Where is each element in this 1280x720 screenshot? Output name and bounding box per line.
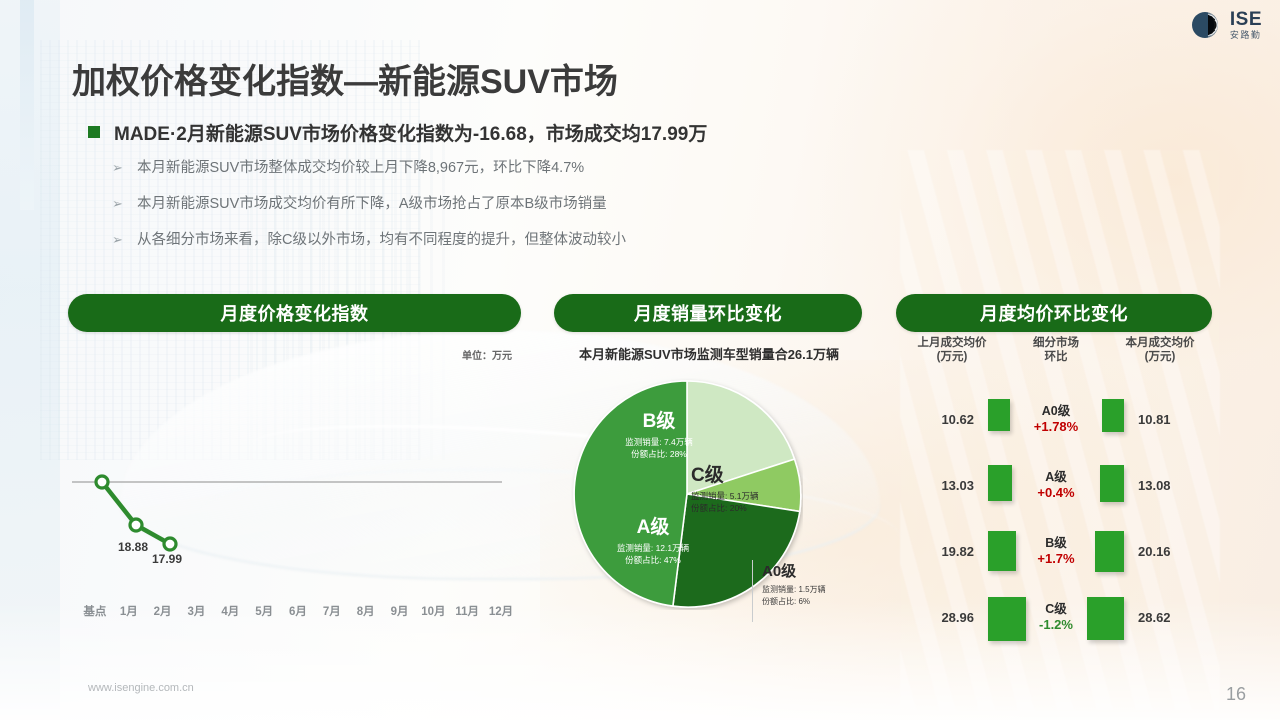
cell-current-price: 28.62 [1130,610,1212,625]
cell-current-price: 20.16 [1130,544,1212,559]
cell-prev-price: 28.96 [900,610,982,625]
headline-square-bullet-icon [88,126,100,138]
x-tick-m12: 12月 [484,603,518,619]
cell-delta: +1.78% [1034,419,1078,435]
arrow-bullet-icon: ➢ [112,230,124,250]
line-series-path [102,482,170,544]
bar-prev [988,597,1026,641]
data-point-base [96,476,108,488]
pie-label-a0-title: A0级 [762,560,870,581]
x-tick-base: 基点 [78,603,112,619]
data-point-jan [130,519,142,531]
list-item: ➢ 本月新能源SUV市场成交均价有所下降，A级市场抢占了原本B级市场销量 [112,194,626,214]
x-tick-m2: 2月 [146,603,180,619]
bar-current [1102,399,1124,432]
pie-label-a0-share: 份额占比: 6% [762,596,870,608]
cell-prev-price: 19.82 [900,544,982,559]
cell-segment-name: A级 [1037,470,1074,485]
cell-delta: +1.7% [1037,551,1074,567]
logo-wordmark: ISE [1230,10,1262,29]
bar-prev [988,465,1012,501]
logo-wordmark-cn: 安路勤 [1230,31,1262,40]
page-number: 16 [1226,684,1246,705]
pie-label-a0-volume: 监测销量: 1.5万辆 [762,584,870,596]
cell-segment-name: A0级 [1034,404,1078,419]
page-title: 加权价格变化指数—新能源SUV市场 [72,54,618,103]
table-row: 13.03 A级 +0.4% 13.08 [900,452,1212,518]
x-tick-m11: 11月 [450,603,484,619]
list-item: ➢ 本月新能源SUV市场整体成交均价较上月下降8,967元，环比下降4.7% [112,158,626,178]
arrow-bullet-icon: ➢ [112,194,124,214]
x-tick-m4: 4月 [213,603,247,619]
table-row: 10.62 A0级 +1.78% 10.81 [900,386,1212,452]
panel-header-price-table: 月度均价环比变化 [896,294,1212,332]
bullet-list: ➢ 本月新能源SUV市场整体成交均价较上月下降8,967元，环比下降4.7% ➢… [112,158,626,266]
bar-current [1087,597,1124,640]
bar-prev [988,531,1016,571]
data-label-jan: 18.88 [118,540,148,554]
footer-url: www.isengine.com.cn [88,682,194,694]
x-tick-m10: 10月 [416,603,450,619]
arrow-bullet-icon: ➢ [112,158,124,178]
list-item: ➢ 从各细分市场来看，除C级以外市场，均有不同程度的提升，但整体波动较小 [112,230,626,250]
x-tick-m3: 3月 [180,603,214,619]
column-header-prev-price: 上月成交均价 (万元) [900,336,1004,364]
pie-callout-a0: A0级 监测销量: 1.5万辆 份额占比: 6% [752,560,870,622]
x-tick-m7: 7月 [315,603,349,619]
table-row: 28.96 C级 -1.2% 28.62 [900,584,1212,650]
price-table-header: 上月成交均价 (万元) 细分市场 环比 本月成交均价 (万元) [900,336,1212,364]
table-row: 19.82 B级 +1.7% 20.16 [900,518,1212,584]
bar-current [1100,465,1124,502]
cell-delta: +0.4% [1037,485,1074,501]
cell-segment-name: B级 [1037,536,1074,551]
data-point-feb [164,538,176,550]
headline-row: MADE·2月新能源SUV市场价格变化指数为-16.68，市场成交均17.99万 [88,119,707,146]
pie-chart-caption: 本月新能源SUV市场监测车型销量合26.1万辆 [554,344,864,363]
cell-current-price: 13.08 [1130,478,1212,493]
bar-prev [988,399,1010,431]
brand-logo: ISE 安路勤 [1189,8,1262,42]
line-chart-x-axis: 基点 1月 2月 3月 4月 5月 6月 7月 8月 9月 10月 11月 12… [78,603,518,619]
cell-delta: -1.2% [1039,617,1073,633]
cell-current-price: 10.81 [1130,412,1212,427]
x-tick-m6: 6月 [281,603,315,619]
cell-prev-price: 13.03 [900,478,982,493]
cell-prev-price: 10.62 [900,412,982,427]
panel-header-line-chart: 月度价格变化指数 [68,294,521,332]
x-tick-m5: 5月 [247,603,281,619]
data-label-feb: 17.99 [152,552,182,566]
ise-globe-logo-icon [1189,8,1223,42]
x-tick-m9: 9月 [383,603,417,619]
cell-segment-name: C级 [1039,602,1073,617]
x-tick-m8: 8月 [349,603,383,619]
panel-header-pie-chart: 月度销量环比变化 [554,294,862,332]
bullet-text: 本月新能源SUV市场整体成交均价较上月下降8,967元，环比下降4.7% [137,158,584,178]
column-header-current-price: 本月成交均价 (万元) [1108,336,1212,364]
line-chart-unit-label: 单位：万元 [462,347,512,362]
headline-text: MADE·2月新能源SUV市场价格变化指数为-16.68，市场成交均17.99万 [114,119,707,146]
bar-current [1095,531,1124,572]
column-header-segment-change: 细分市场 环比 [1004,336,1108,364]
bullet-text: 从各细分市场来看，除C级以外市场，均有不同程度的提升，但整体波动较小 [137,230,626,250]
bullet-text: 本月新能源SUV市场成交均价有所下降，A级市场抢占了原本B级市场销量 [137,194,607,214]
pie-slice-b [574,381,687,606]
price-table-body: 10.62 A0级 +1.78% 10.81 13.03 A级 +0.4% [900,386,1212,650]
x-tick-m1: 1月 [112,603,146,619]
